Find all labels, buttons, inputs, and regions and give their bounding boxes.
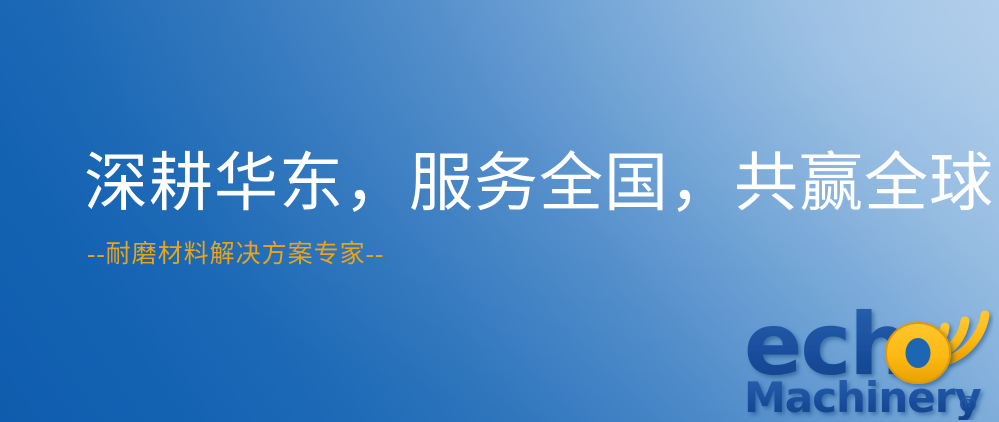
banner-text-block: 深耕华东，服务全国，共赢全球 --耐磨材料解决方案专家--	[84, 148, 994, 270]
echo-machinery-logo[interactable]: ech Machinery ®	[742, 296, 994, 420]
page-title: 深耕华东，服务全国，共赢全球	[84, 148, 994, 220]
hero-banner: 深耕华东，服务全国，共赢全球 --耐磨材料解决方案专家--	[0, 0, 999, 422]
logo-tagline: Machinery	[744, 373, 981, 420]
logo-registered-mark: ®	[957, 393, 979, 418]
banner-subtitle: --耐磨材料解决方案专家--	[84, 220, 994, 270]
